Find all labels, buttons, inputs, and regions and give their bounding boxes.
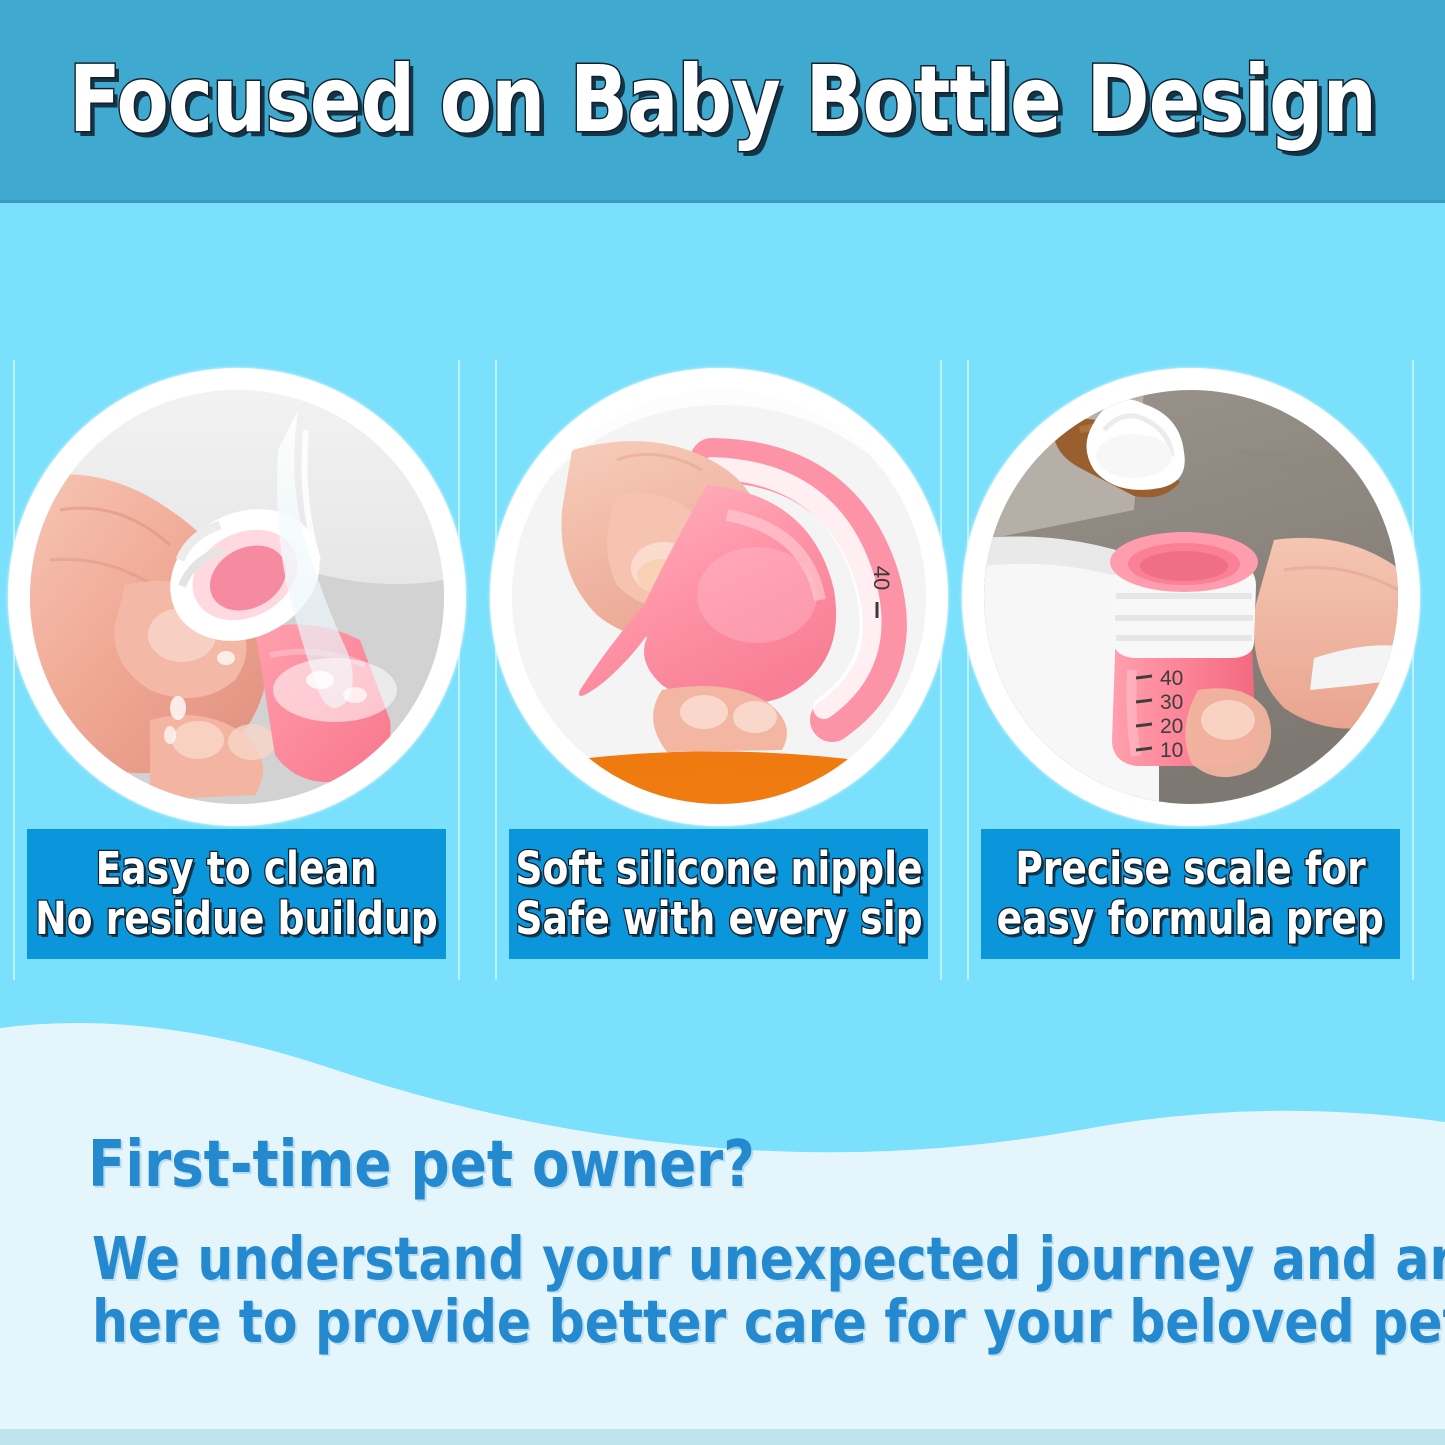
caption-line-1: Easy to clean — [96, 845, 377, 893]
header-band: Focused on Baby Bottle Design — [0, 0, 1445, 203]
feature-card-precise-scale[interactable]: 40 30 20 10 Precise scale for easy formu… — [967, 360, 1414, 985]
caption-bar: Soft silicone nipple Safe with every sip — [509, 829, 928, 959]
squeezing-silicone-nipple-image: 40 — [512, 390, 926, 804]
feature-card-easy-to-clean[interactable]: Easy to clean No residue buildup — [13, 360, 460, 985]
feature-card-grid: Easy to clean No residue buildup — [0, 360, 1445, 990]
svg-text:30: 30 — [1160, 691, 1183, 714]
caption-line-2: easy formula prep — [997, 895, 1384, 943]
svg-text:20: 20 — [1160, 715, 1183, 738]
body-line-1: We understand your unexpected journey an… — [92, 1228, 1299, 1291]
page-title: Focused on Baby Bottle Design — [69, 54, 1376, 146]
svg-text:40: 40 — [1160, 667, 1183, 690]
bottom-message-section: First-time pet owner? We understand your… — [0, 980, 1445, 1445]
photo-ring — [8, 368, 466, 826]
caption-bar: Easy to clean No residue buildup — [27, 829, 446, 959]
lead-question: First-time pet owner? — [88, 1128, 755, 1202]
measuring-formula-powder-image: 40 30 20 10 — [984, 390, 1398, 804]
caption-line-2: No residue buildup — [35, 895, 438, 943]
svg-text:10: 10 — [1160, 739, 1183, 762]
caption-bar: Precise scale for easy formula prep — [981, 829, 1400, 959]
photo-ring: 40 — [490, 368, 948, 826]
caption-line-2: Safe with every sip — [515, 895, 922, 943]
washing-bottle-under-running-water-image — [30, 390, 444, 804]
body-line-2: here to provide better care for your bel… — [92, 1291, 1299, 1354]
body-paragraph: We understand your unexpected journey an… — [92, 1228, 1362, 1353]
bottom-text-block: First-time pet owner? We understand your… — [0, 980, 1445, 1445]
svg-text:40: 40 — [869, 566, 894, 590]
feature-card-soft-nipple[interactable]: 40 — [495, 360, 942, 985]
photo-ring: 40 30 20 10 — [962, 368, 1420, 826]
caption-line-1: Soft silicone nipple — [515, 845, 922, 893]
caption-line-1: Precise scale for — [1015, 845, 1365, 893]
